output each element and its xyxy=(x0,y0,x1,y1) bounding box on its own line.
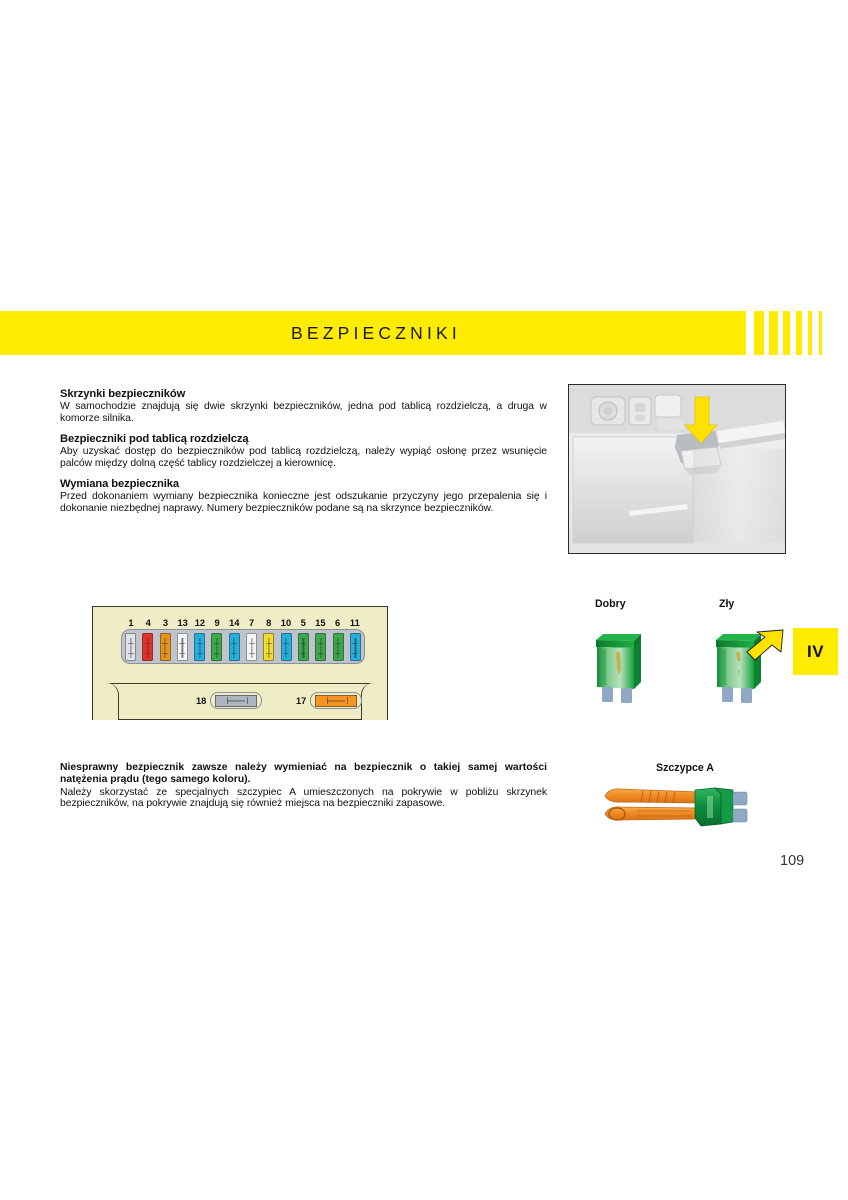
fuse-number: 9 xyxy=(209,618,225,628)
fuse-pliers-illustration: Szczypce A xyxy=(585,762,785,832)
fuse-chip xyxy=(229,633,240,661)
large-fuse-holder xyxy=(310,692,362,709)
large-fuse-holder xyxy=(210,692,262,709)
fuse-chip xyxy=(263,633,274,661)
fuse-number: 8 xyxy=(261,618,277,628)
header-stripe xyxy=(819,311,822,355)
fuse-number: 5 xyxy=(295,618,311,628)
fuse-number: 1 xyxy=(123,618,139,628)
bad-fuse-label: Zły xyxy=(719,598,734,610)
bottom-note-block: Niesprawny bezpiecznik zawsze należy wym… xyxy=(60,762,547,810)
large-fuse-body xyxy=(215,695,257,707)
fuse-number: 10 xyxy=(278,618,294,628)
fuse-number: 7 xyxy=(244,618,260,628)
article-text-column: Skrzynki bezpieczników W samochodzie zna… xyxy=(60,388,547,515)
fuse-chip xyxy=(160,633,171,661)
fuse-chip xyxy=(194,633,205,661)
fuse-chip xyxy=(315,633,326,661)
fuse-condition-comparison: Dobry Zły xyxy=(573,598,788,718)
fuse-chip xyxy=(177,633,188,661)
chapter-header-bar: BEZPIECZNIKI xyxy=(0,311,746,355)
good-fuse-label: Dobry xyxy=(595,598,626,610)
section-body-fuse-boxes: W samochodzie znajdują się dwie skrzynki… xyxy=(60,401,547,424)
fuse-number: 4 xyxy=(140,618,156,628)
fuse-chip xyxy=(246,633,257,661)
fusebox-left-notch xyxy=(93,683,119,720)
dashboard-panel-photo xyxy=(568,384,786,554)
fuse-number: 6 xyxy=(330,618,346,628)
dashboard-photo-graphic xyxy=(569,385,785,553)
header-stripe xyxy=(754,311,764,355)
fusebox-right-notch xyxy=(361,683,387,720)
large-fuse-body xyxy=(315,695,357,707)
fuse-number: 14 xyxy=(226,618,242,628)
large-fuse-number: 18 xyxy=(196,696,206,706)
good-fuse-icon xyxy=(591,624,647,704)
page-number: 109 xyxy=(780,853,804,869)
fuse-chip xyxy=(211,633,222,661)
fusebox-divider xyxy=(93,683,387,684)
fuse-strip xyxy=(121,629,365,664)
fuse-number: 13 xyxy=(175,618,191,628)
section-body-dashboard-fuses: Aby uzyskać dostęp do bezpieczników pod … xyxy=(60,446,547,469)
pliers-label: Szczypce A xyxy=(585,762,785,774)
large-fuse-number: 17 xyxy=(296,696,306,706)
header-stripe xyxy=(783,311,790,355)
fuse-chip xyxy=(142,633,153,661)
fuse-number: 15 xyxy=(312,618,328,628)
page-title: BEZPIECZNIKI xyxy=(0,311,746,355)
fuse-number: 12 xyxy=(192,618,208,628)
header-stripe xyxy=(796,311,802,355)
fuse-number: 3 xyxy=(157,618,173,628)
fuse-chip xyxy=(333,633,344,661)
section-heading-dashboard-fuses: Bezpieczniki pod tablicą rozdzielczą xyxy=(60,433,547,445)
bottom-note-body: Należy skorzystać ze specjalnych szczypi… xyxy=(60,787,547,810)
large-fuse-17: 17 xyxy=(296,692,362,709)
fuse-chip xyxy=(298,633,309,661)
section-heading-fuse-boxes: Skrzynki bezpieczników xyxy=(60,388,547,400)
broken-element-arrow-icon xyxy=(735,626,785,666)
fuse-number: 11 xyxy=(347,618,363,628)
fuse-chip xyxy=(350,633,361,661)
pliers-icon xyxy=(603,784,767,830)
fuse-chip xyxy=(281,633,292,661)
large-fuse-18: 18 xyxy=(196,692,262,709)
header-stripe-decoration xyxy=(746,311,848,355)
header-stripe xyxy=(769,311,778,355)
fuse-box-diagram: 1 4 3 13 12 9 14 7 8 10 5 15 6 11 18 xyxy=(92,606,388,720)
section-body-fuse-replacement: Przed dokonaniem wymiany bezpiecznika ko… xyxy=(60,491,547,514)
fuse-chip xyxy=(125,633,136,661)
bottom-note-bold: Niesprawny bezpiecznik zawsze należy wym… xyxy=(60,762,547,786)
chapter-tab-iv: IV xyxy=(793,628,838,675)
section-heading-fuse-replacement: Wymiana bezpiecznika xyxy=(60,478,547,490)
header-stripe xyxy=(808,311,812,355)
fuse-number-row: 1 4 3 13 12 9 14 7 8 10 5 15 6 11 xyxy=(123,615,363,628)
